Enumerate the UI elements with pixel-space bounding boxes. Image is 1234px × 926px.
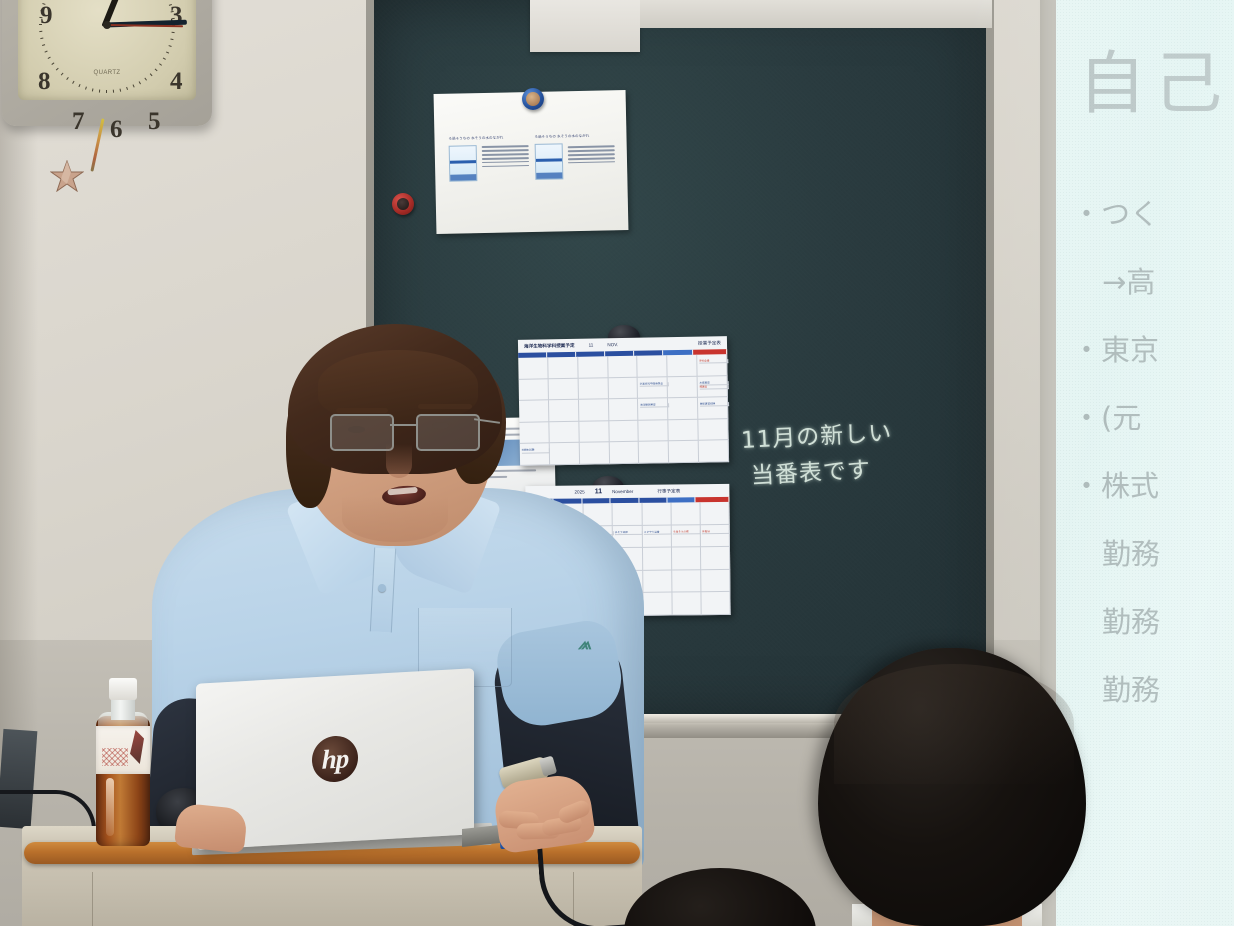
calendar-day-cell <box>519 422 549 444</box>
calendar-day-cell <box>519 379 549 401</box>
calendar-day-cell: 卒業研究中間発表会 <box>638 377 668 399</box>
clock-numeral-9: 9 <box>40 2 53 30</box>
calendar-day-cell <box>608 377 638 399</box>
calendar-day-cell: 休館日 <box>701 525 730 548</box>
calendar-month-en: NOV. <box>607 342 618 347</box>
calendar-day-note: 乗船実習説明 <box>700 402 729 407</box>
calendar-day-cell: ろ過そう点検 <box>671 525 700 548</box>
speaker-nose <box>386 444 412 478</box>
wall-clock: 9 8 7 6 5 4 3 QUARTZ <box>2 0 212 126</box>
calendar-day-cell <box>578 356 608 378</box>
calendar-day-cell <box>701 547 730 570</box>
calendar-day-note: 卒業研究中間発表会 <box>640 382 669 387</box>
glasses-lens-right <box>416 414 480 451</box>
calendar-day-cell: 水産実習補講日 <box>698 376 728 398</box>
podium-panel-seam <box>92 872 574 926</box>
calendar-day-note: 海洋観測実習 <box>640 403 669 408</box>
calendar-day-cell <box>639 420 669 442</box>
calendar-day-cell <box>643 570 672 593</box>
calendar-day-cell <box>609 421 639 443</box>
calendar-right-label: 行事予定表 <box>657 488 680 494</box>
clock-face: 9 8 7 6 5 4 3 QUARTZ <box>18 0 196 100</box>
calendar-day-note: ろ過そう点検 <box>673 530 701 535</box>
slide-bullet: →高 <box>1102 268 1234 297</box>
calendar-day-cell <box>519 400 549 422</box>
shirt-logo-icon: ⩕ <box>578 634 596 656</box>
calendar-day-cell <box>609 442 639 464</box>
clock-numeral-7: 7 <box>72 108 85 136</box>
calendar-day-cell <box>549 422 579 444</box>
calendar-day-cell <box>608 356 638 378</box>
bottle-cap <box>109 678 137 700</box>
calendar-day-note: 水そう清掃 <box>615 530 643 535</box>
clock-brand-label: QUARTZ <box>94 70 121 76</box>
origami-star-icon <box>50 160 84 192</box>
calendar-day-cell <box>549 400 579 422</box>
calendar-day-cell: 学科会議 <box>697 354 727 376</box>
bottle-neck <box>111 698 135 720</box>
calendar-day-cell <box>642 503 671 526</box>
calendar-day-cell <box>701 592 730 615</box>
slide-bullet: 勤務 <box>1102 676 1234 705</box>
tank-waterline <box>536 158 562 162</box>
calendar-day-cell <box>701 570 730 593</box>
calendar-day-cell <box>643 548 672 571</box>
calendar-day-cell <box>668 376 698 398</box>
calendar-day-cell <box>579 421 609 443</box>
calendar-day-cell <box>700 502 729 525</box>
calendar-day-cell <box>698 419 728 441</box>
calendar-day-cell <box>639 442 669 464</box>
calendar-schedule-top: 海洋生物科学科授業予定 11 NOV. 授業予定表 学科会議卒業研究中間発表会水… <box>518 336 729 466</box>
speaker-shirt-button <box>378 584 386 592</box>
calendar-day-cell <box>548 378 578 400</box>
calendar-day-cell <box>669 419 699 441</box>
clock-numeral-4: 4 <box>170 68 183 96</box>
poster-legend <box>568 137 616 179</box>
clock-pivot <box>103 21 111 29</box>
calendar-day-note: 前期末試験 <box>521 449 550 454</box>
calendar-month-en: November <box>612 489 633 494</box>
projector-screen-strip-upper <box>640 0 992 28</box>
poster-column-2: ろ過そうちの 水そうの水のながれ <box>534 132 615 180</box>
calendar-day-cell <box>550 443 580 465</box>
calendar-day-cell <box>668 398 698 420</box>
calendar-right-label: 授業予定表 <box>698 340 721 346</box>
classroom-presentation-photo: 9 8 7 6 5 4 3 QUARTZ ろ過そうちの 水そうの水のながれ <box>0 0 1234 926</box>
calendar-day-note: 学科会議 <box>699 359 728 364</box>
speaker-eyebrow-right <box>418 404 472 409</box>
slide-bullet: ・株式 <box>1072 472 1234 501</box>
poster-column-1: ろ過そうちの 水そうの水のながれ <box>448 134 529 182</box>
calendar-day-cell <box>669 441 699 463</box>
calendar-grid: 学科会議卒業研究中間発表会水産実習補講日海洋観測実習乗船実習説明前期末試験 <box>518 354 729 466</box>
clock-numeral-6: 6 <box>110 116 123 144</box>
calendar-day-note: 休館日 <box>702 530 730 535</box>
red-magnet-icon <box>392 193 414 215</box>
calendar-day-cell <box>579 399 609 421</box>
glasses-bridge <box>390 424 416 426</box>
clock-numeral-8: 8 <box>38 68 51 96</box>
blue-magnet-icon <box>522 88 544 110</box>
slide-bullet: ・つく <box>1072 200 1234 229</box>
calendar-day-cell <box>699 441 729 463</box>
tank-waterline <box>450 160 476 164</box>
poster-legend <box>482 139 530 181</box>
tank-diagram <box>535 143 564 180</box>
calendar-day-cell <box>579 443 609 465</box>
calendar-month-number: 11 <box>595 488 602 495</box>
calendar-day-note: えさやり当番 <box>644 530 672 535</box>
calendar-day-cell <box>672 570 701 593</box>
calendar-day-cell <box>548 357 578 379</box>
chalk-writing: 11月の新しい 当番表です <box>740 416 895 495</box>
calendar-day-cell <box>578 378 608 400</box>
calendar-day-cell <box>518 357 548 379</box>
speaker-eyebrow-left <box>336 408 388 413</box>
calendar-day-cell <box>672 593 701 616</box>
slide-title: 自己 <box>1078 28 1230 127</box>
calendar-year: 2025 <box>574 489 584 494</box>
calendar-day-cell: 前期末試験 <box>520 444 550 466</box>
calendar-title: 海洋生物科学科授業予定 <box>524 342 575 349</box>
calendar-day-cell <box>667 355 697 377</box>
slide-bullet: 勤務 <box>1102 608 1234 637</box>
bottle-label <box>96 726 150 774</box>
tank-diagram <box>449 145 478 182</box>
bottle-highlight <box>106 778 114 836</box>
tank-substrate <box>536 172 562 179</box>
calendar-header: 2025 11 November 行事予定表 <box>525 484 729 499</box>
clock-numeral-5: 5 <box>148 108 161 136</box>
slide-bullet-list: ・つく→高・東京・(元・株式勤務勤務勤務 <box>1072 200 1234 744</box>
calendar-month-number: 11 <box>589 343 594 348</box>
calendar-day-cell <box>671 502 700 525</box>
calendar-day-cell <box>638 355 668 377</box>
slide-bullet: 勤務 <box>1102 540 1234 569</box>
chalk-line-2: 当番表です <box>750 452 895 495</box>
glasses-lens-left <box>330 414 394 451</box>
calendar-day-cell: えさやり当番 <box>642 525 671 548</box>
calendar-day-cell <box>672 547 701 570</box>
slide-bullet: ・東京 <box>1072 336 1234 365</box>
calendar-day-cell <box>609 399 639 421</box>
calendar-day-cell: 乗船実習説明 <box>698 397 728 419</box>
calendar-day-cell <box>613 503 642 526</box>
hp-logo-text: hp <box>322 745 349 773</box>
calendar-day-note: 補講日 <box>699 385 728 390</box>
slide-bullet: ・(元 <box>1072 404 1234 433</box>
audience-head-front-right <box>818 648 1086 926</box>
wall-poster: ろ過そうちの 水そうの水のながれ ろ過そうちの 水そうの水のながれ <box>434 90 629 234</box>
calendar-day-cell <box>643 593 672 616</box>
hp-logo-icon: hp <box>312 735 358 784</box>
projector-screen-strip <box>530 0 640 52</box>
tank-substrate <box>450 174 476 181</box>
calendar-day-cell: 海洋観測実習 <box>638 398 668 420</box>
tea-bottle <box>92 678 154 846</box>
